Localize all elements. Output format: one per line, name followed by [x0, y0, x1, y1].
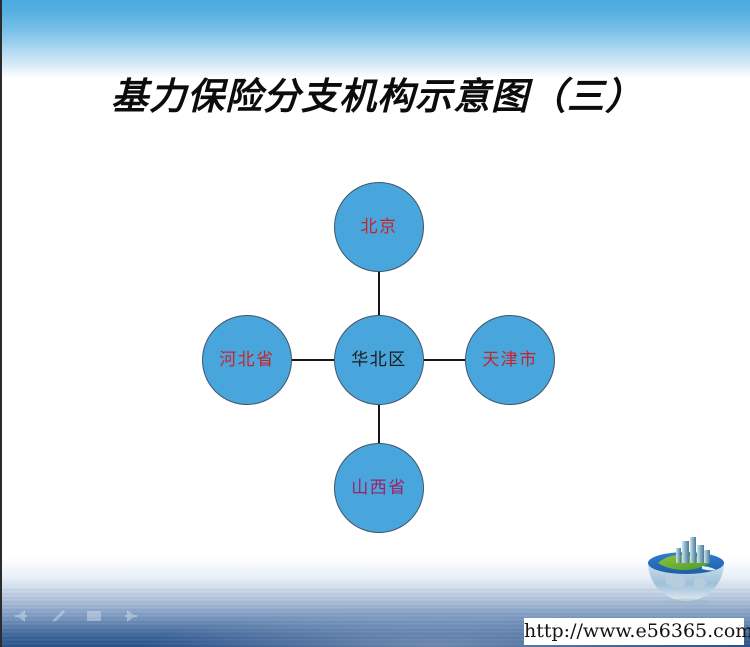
pen-icon[interactable]	[48, 607, 68, 625]
node-shanxi[interactable]: 山西省	[334, 443, 424, 533]
node-tianjin[interactable]: 天津市	[465, 315, 555, 405]
previous-slide-icon[interactable]	[12, 607, 32, 625]
connector-center-to-north	[378, 271, 380, 316]
slideshow-controls[interactable]	[12, 605, 142, 627]
watermark: http://www.e56365.com	[524, 520, 750, 647]
watermark-url: http://www.e56365.com	[524, 618, 744, 645]
next-slide-icon[interactable]	[120, 607, 140, 625]
globe-city-logo-icon	[644, 535, 728, 609]
connector-center-to-east	[423, 359, 466, 361]
node-north-china-region[interactable]: 华北区	[334, 315, 424, 405]
node-beijing[interactable]: 北京	[334, 182, 424, 272]
connector-center-to-west	[291, 359, 335, 361]
menu-icon[interactable]	[84, 607, 104, 625]
connector-center-to-south	[378, 404, 380, 444]
node-hebei[interactable]: 河北省	[202, 315, 292, 405]
presentation-slide: 基力保险分支机构示意图（三） 北京 河北省 天津市 山西省 华北区	[0, 0, 750, 647]
